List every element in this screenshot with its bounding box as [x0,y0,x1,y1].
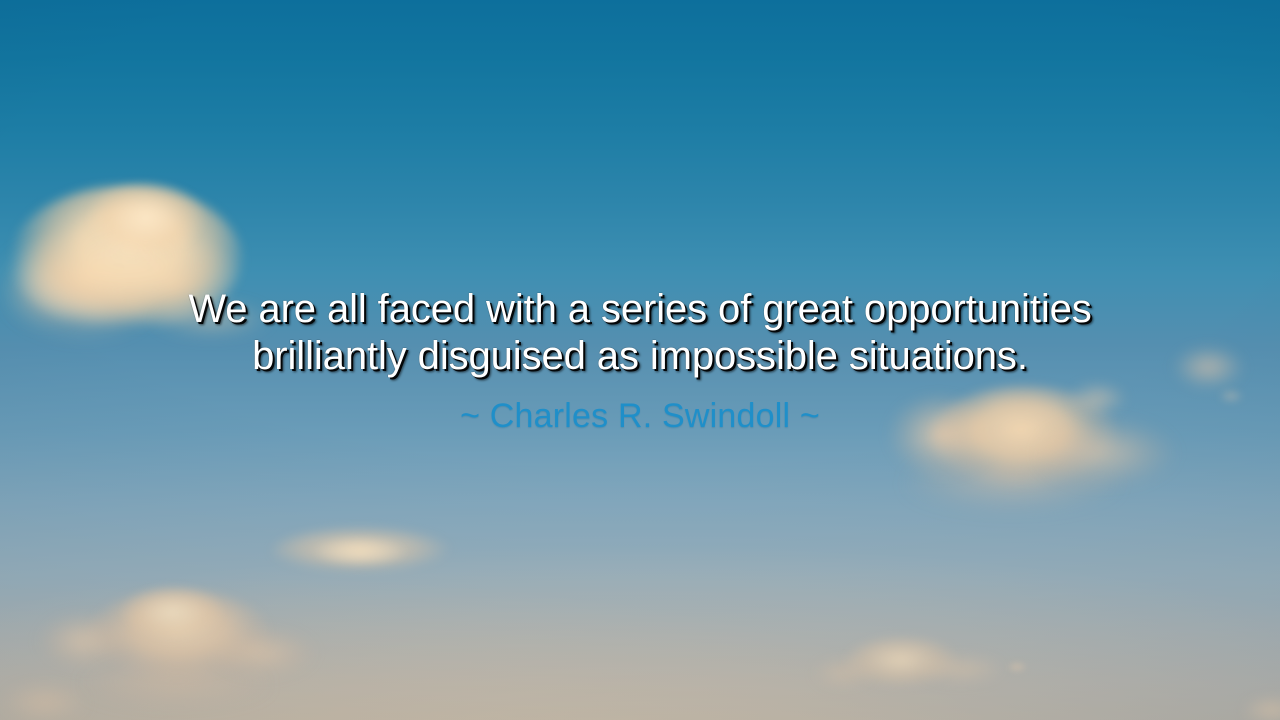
quote-attribution: ~ Charles R. Swindoll ~ [90,396,1190,436]
quote-text: We are all faced with a series of great … [90,286,1190,380]
quote-block: We are all faced with a series of great … [0,286,1280,436]
quote-card: We are all faced with a series of great … [0,0,1280,720]
